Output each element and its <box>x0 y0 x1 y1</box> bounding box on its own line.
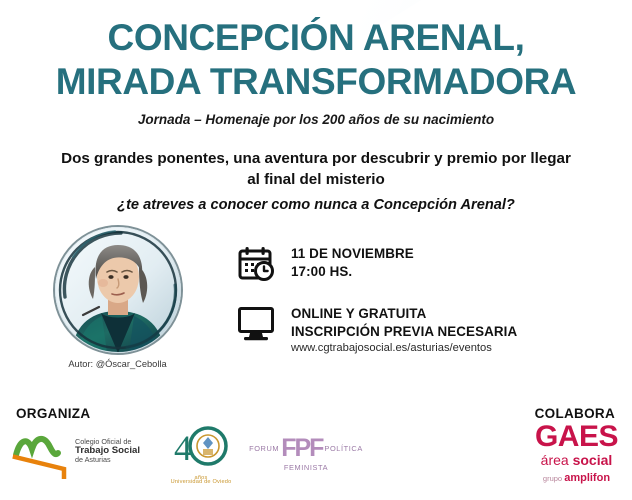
logo-gaes-group-prefix: grupo <box>543 474 564 483</box>
calendar-clock-icon <box>235 243 277 285</box>
logo-gaes-group-name: amplifon <box>564 472 610 484</box>
logo-gaes[interactable]: GAES área social grupo amplifon <box>535 422 618 484</box>
logo-fpf-monogram: FPF <box>279 437 324 460</box>
event-date-line-1: 11 DE NOVIEMBRE <box>291 245 414 263</box>
lead-question: ¿te atreves a conocer como nunca a Conce… <box>0 190 632 213</box>
logo-gaes-subtitle: área social <box>535 453 618 467</box>
portrait-column: Autor: @Óscar_Cebolla <box>0 227 235 369</box>
event-access-row: ONLINE Y GRATUITA INSCRIPCIÓN PREVIA NEC… <box>235 303 632 355</box>
organizer-logos: Colegio Oficial de Trabajo Social de Ast… <box>12 424 354 485</box>
logo-fpf-right: POLÍTICA <box>324 444 362 453</box>
poster-canvas: CONCEPCIÓN ARENAL, MIRADA TRANSFORMADORA… <box>0 0 632 500</box>
logo-fpf-row: FORUM FPF POLÍTICA <box>258 437 354 460</box>
event-date-line-2: 17:00 HS. <box>291 263 414 281</box>
page-title-line-2: MIRADA TRANSFORMADORA <box>0 57 632 101</box>
middle-section: Autor: @Óscar_Cebolla <box>0 213 632 373</box>
registration-url[interactable]: www.cgtrabajosocial.es/asturias/eventos <box>291 340 517 354</box>
colabora-label: COLABORA <box>535 406 615 421</box>
portrait-author-credit: Autor: @Óscar_Cebolla <box>68 353 166 369</box>
event-date-text: 11 DE NOVIEMBRE 17:00 HS. <box>291 243 414 281</box>
logo-fpf-bottom: FEMINISTA <box>258 463 354 472</box>
portrait-image <box>55 227 181 353</box>
event-access-line-2: INSCRIPCIÓN PREVIA NECESARIA <box>291 323 517 341</box>
logo-colegio-line-3: de Asturias <box>75 456 140 464</box>
page-subtitle: Jornada – Homenaje por los 200 años de s… <box>0 101 632 127</box>
logo-gaes-sub-bold: social <box>573 452 613 468</box>
logo-universidad-oviedo[interactable]: 4 años Universidad de Oviedo <box>158 424 244 485</box>
page-title-line-1: CONCEPCIÓN ARENAL, <box>0 0 632 57</box>
logo-forum-politica-feminista[interactable]: FORUM FPF POLÍTICA FEMINISTA <box>258 437 354 473</box>
event-date-row: 11 DE NOVIEMBRE 17:00 HS. <box>235 243 632 285</box>
lead-text: Dos grandes ponentes, una aventura por d… <box>0 127 632 189</box>
footer: ORGANIZA COLABORA Colegio Oficial de Tra… <box>0 402 632 500</box>
logo-colegio-trabajo-social[interactable]: Colegio Oficial de Trabajo Social de Ast… <box>12 431 144 479</box>
collaborator-logos: GAES área social grupo amplifon <box>535 422 618 484</box>
event-info-column: 11 DE NOVIEMBRE 17:00 HS. ONLINE Y GRATU… <box>235 227 632 373</box>
logo-gaes-group: grupo amplifon <box>535 473 618 484</box>
event-access-text: ONLINE Y GRATUITA INSCRIPCIÓN PREVIA NEC… <box>291 303 517 355</box>
event-access-line-1: ONLINE Y GRATUITA <box>291 305 517 323</box>
monitor-icon <box>235 303 277 345</box>
logo-fpf-left: FORUM <box>249 444 279 453</box>
logo-uniovi-caption: Universidad de Oviedo <box>158 479 244 485</box>
organiza-label: ORGANIZA <box>16 406 90 421</box>
logo-gaes-brand: GAES <box>535 422 618 452</box>
logo-colegio-text: Colegio Oficial de Trabajo Social de Ast… <box>72 431 140 465</box>
logo-gaes-sub-light: área <box>541 452 573 468</box>
